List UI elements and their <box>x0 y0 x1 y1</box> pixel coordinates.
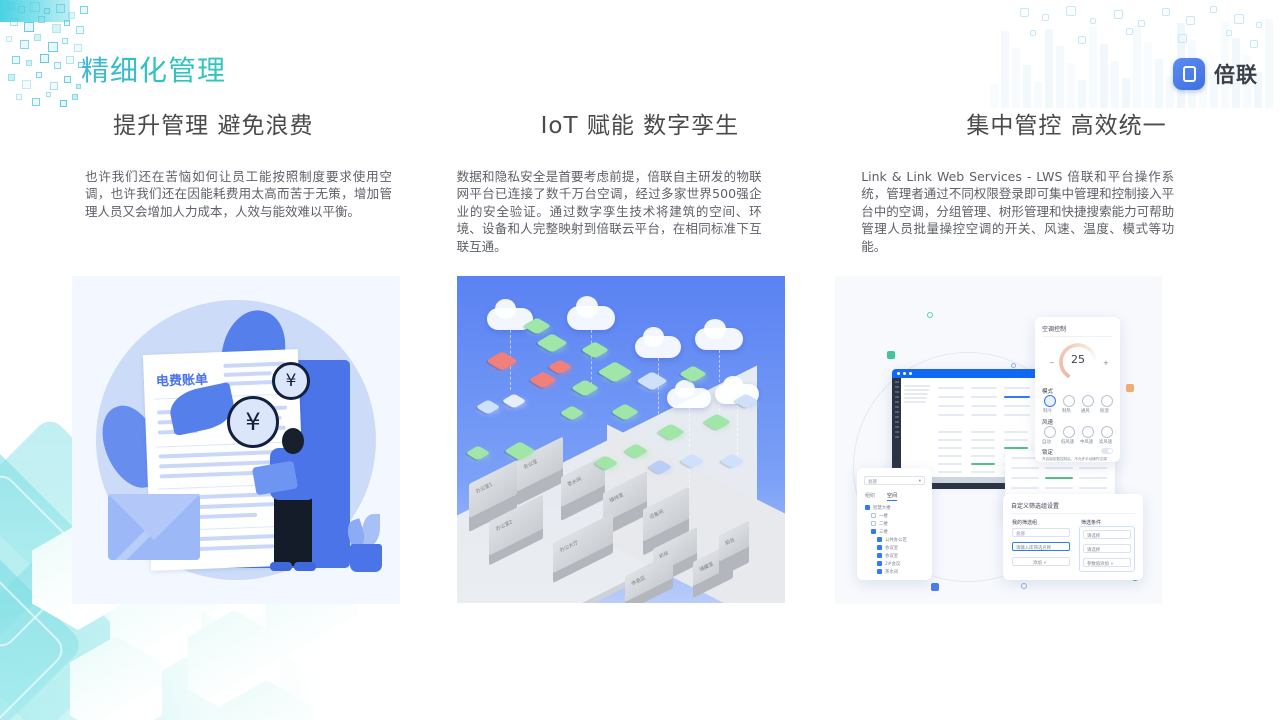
device-node-icon <box>560 406 585 421</box>
filter-name-input[interactable]: 请输入库筛选名称 <box>1012 542 1070 551</box>
table-row <box>971 414 997 416</box>
browser-titlebar <box>892 369 1047 378</box>
table-cell <box>971 471 995 473</box>
tree-node-label: 二楼 <box>879 521 888 527</box>
coin-small: ¥ <box>272 362 310 400</box>
room-label: 会议室 <box>522 458 539 471</box>
table-row <box>938 396 964 398</box>
table-cell <box>938 471 962 473</box>
mode-3-label: 除湿 <box>1100 408 1109 414</box>
column-2-body: 数据和隐私安全是首要考虑前提，倍联自主研发的物联网平台已连接了数千万台空调，经过… <box>457 168 762 255</box>
room-label: 接待室 <box>608 491 625 504</box>
table-row <box>1004 414 1030 416</box>
table-row <box>1004 405 1030 407</box>
brand-logo: 倍联 <box>1173 58 1258 90</box>
table-row <box>1045 487 1073 489</box>
table-cell <box>938 455 962 457</box>
filter-condition-value: 请选择 <box>1087 533 1100 539</box>
fan-2-icon[interactable] <box>1082 426 1094 438</box>
table-row <box>938 414 964 416</box>
column-3: 集中管控 高效统一 Link & Link Web Services - LWS… <box>853 110 1280 255</box>
filter-name-value[interactable]: 总部 <box>1012 528 1070 537</box>
device-node-icon <box>581 342 609 359</box>
mode-1-icon[interactable] <box>1063 395 1075 407</box>
mode-3-icon[interactable] <box>1101 395 1113 407</box>
cloud-puff <box>495 299 516 319</box>
brand-name: 倍联 <box>1214 59 1258 89</box>
table-row <box>1079 477 1107 479</box>
device-node-icon <box>611 404 639 421</box>
fan-1-icon[interactable] <box>1063 426 1075 438</box>
custom-filter-panel[interactable]: 自定义筛选组设置 我的筛选组 筛选条件 总部 请输入库筛选名称 添加 + 请选择… <box>1003 494 1143 580</box>
coin-large: ¥ <box>227 396 279 448</box>
fan-0-label: 自动 <box>1042 439 1051 445</box>
table-row <box>1079 467 1107 469</box>
room-label: 办公室1 <box>474 481 493 495</box>
table-cell <box>971 431 995 433</box>
device-node-icon <box>536 333 568 352</box>
tree-node-checkbox[interactable] <box>871 513 876 518</box>
room-label: 前台 <box>724 536 736 547</box>
device-node-icon <box>529 372 557 389</box>
mode-2-label: 通风 <box>1081 408 1090 414</box>
tab-space[interactable]: 空间 <box>887 492 897 501</box>
tree-node-checkbox[interactable] <box>871 521 876 526</box>
fan-2-label: 中风速 <box>1080 439 1093 445</box>
plant-pot <box>350 544 382 572</box>
room-label: 办公大厅 <box>558 539 579 554</box>
person-head <box>282 428 304 454</box>
room-label: 茶水间 <box>566 475 583 488</box>
filter-add-left-button[interactable]: 添加 + <box>1012 557 1070 566</box>
decor-dot <box>1011 363 1016 368</box>
decor-square <box>931 583 939 591</box>
device-node-icon <box>548 360 573 375</box>
decor-square <box>887 351 895 359</box>
filter-left-col-label: 我的筛选组 <box>1012 519 1037 526</box>
device-node-icon <box>486 351 518 370</box>
connection-dashline <box>591 330 592 390</box>
room-label: 办公室2 <box>494 518 513 532</box>
table-row <box>1079 487 1107 489</box>
table-row <box>938 405 964 407</box>
table-cell <box>1004 439 1028 441</box>
org-select[interactable]: 总部 ▾ <box>864 476 925 485</box>
bill-title: 电费账单 <box>156 369 209 390</box>
device-node-icon <box>476 400 501 415</box>
person-legs <box>274 494 312 566</box>
page-title: 精细化管理 <box>81 52 226 90</box>
content-columns: 提升管理 避免浪费 也许我们还在苦恼如何让员工能按照制度要求使用空调，也许我们还… <box>0 110 1280 255</box>
table-row <box>1011 477 1039 479</box>
plant-leaf <box>362 514 380 546</box>
mode-2-icon[interactable] <box>1082 395 1094 407</box>
decor-square <box>1126 384 1134 392</box>
tree-node-checkbox[interactable] <box>877 537 882 542</box>
table-row <box>904 393 928 395</box>
mode-0-label: 制冷 <box>1043 408 1052 414</box>
column-2-heading: IoT 赋能 数字孪生 <box>427 110 854 142</box>
cloud-puff <box>576 296 598 318</box>
tree-node-label: 一楼 <box>879 513 888 519</box>
filter-panel-title: 自定义筛选组设置 <box>1011 501 1059 510</box>
column-1: 提升管理 避免浪费 也许我们还在苦恼如何让员工能按照制度要求使用空调，也许我们还… <box>0 110 427 255</box>
device-node-icon <box>636 371 668 390</box>
lws-dashboard-mockup-illustration: 空调控制 25 − + 模式 制冷制热通风除湿 风速 自动低风速中风速高风速 锁… <box>835 276 1162 604</box>
tree-node-checkbox[interactable] <box>865 505 870 510</box>
tree-node-checkbox[interactable] <box>877 545 882 550</box>
filter-right-col-label: 筛选条件 <box>1081 519 1101 526</box>
circuit-skyline-icon <box>980 0 1280 110</box>
browser-sidebar[interactable] <box>892 378 901 477</box>
table-row <box>1045 467 1073 469</box>
ac-control-panel[interactable]: 空调控制 25 − + 模式 制冷制热通风除湿 风速 自动低风速中风速高风速 锁… <box>1035 317 1120 462</box>
cloud-puff <box>704 319 726 339</box>
tree-node-label: 三楼 <box>879 529 888 535</box>
tree-node-label: 会议室 <box>885 545 898 551</box>
fan-0-icon[interactable] <box>1044 426 1056 438</box>
mode-1-label: 制热 <box>1062 408 1071 414</box>
chevron-down-icon: ▾ <box>919 479 921 484</box>
room-label: 储藏室 <box>698 560 715 573</box>
tree-node-label: 会议室 <box>885 553 898 559</box>
filter-condition-value: 请选择 <box>1087 547 1100 553</box>
cloud-puff <box>675 380 695 398</box>
table-row <box>971 405 997 407</box>
cloud-puff <box>723 376 743 394</box>
filter-add-right-button[interactable]: 添加 + <box>1083 558 1131 567</box>
mode-label: 模式 <box>1042 387 1053 395</box>
table-cell <box>938 447 962 449</box>
column-1-heading: 提升管理 避免浪费 <box>0 110 427 142</box>
column-2: IoT 赋能 数字孪生 数据和隐私安全是首要考虑前提，倍联自主研发的物联网平台已… <box>427 110 854 255</box>
table-row <box>904 389 929 391</box>
table-cell <box>938 463 962 465</box>
temp-increase-button[interactable]: + <box>1103 359 1109 367</box>
table-row <box>971 387 997 389</box>
table-row <box>971 396 997 398</box>
filter-add-right-label: 添加 + <box>1100 561 1114 567</box>
filter-condition-field[interactable]: 请选择 <box>1083 530 1131 539</box>
lock-hint: 开启锁定数控制后，不允许手动操作空调 <box>1042 457 1107 462</box>
tree-node-checkbox[interactable] <box>871 529 876 534</box>
tree-node-label: 智慧大楼 <box>873 505 891 511</box>
table-cell <box>1004 431 1028 433</box>
room-label: 休息区 <box>630 574 647 587</box>
corner-ribbon <box>0 0 70 22</box>
table-row <box>1045 477 1073 479</box>
ac-panel-title: 空调控制 <box>1042 324 1066 333</box>
tree-node-label: 茶水间 <box>885 569 898 575</box>
table-row <box>1004 387 1030 389</box>
table-cell <box>971 455 995 457</box>
tree-node-checkbox[interactable] <box>877 561 882 566</box>
mode-0-icon[interactable] <box>1044 395 1056 407</box>
column-3-body: Link & Link Web Services - LWS 倍联和平台操作系统… <box>861 168 1174 255</box>
table-row <box>904 397 927 399</box>
lock-toggle[interactable] <box>1101 448 1113 454</box>
decor-dot <box>927 312 933 318</box>
table-cell <box>938 431 962 433</box>
fan-3-label: 高风速 <box>1099 439 1112 445</box>
table-row <box>1011 487 1039 489</box>
room-label: 设备间 <box>648 508 665 521</box>
table-row <box>938 387 964 389</box>
tree-node-checkbox[interactable] <box>877 569 882 574</box>
table-cell <box>938 439 962 441</box>
space-tree-panel[interactable]: 总部 ▾ 组织 空间 智慧大楼一楼二楼三楼公共办公区会议室会议室2#会议茶水间 <box>857 468 932 580</box>
tree-node-label: 公共办公区 <box>885 537 907 543</box>
table-cell <box>971 447 995 449</box>
connection-dashline <box>689 408 690 488</box>
table-cell <box>1004 447 1028 449</box>
tree-node-label: 2#会议 <box>885 561 900 567</box>
column-1-body: 也许我们还在苦恼如何让员工能按照制度要求使用空调，也许我们还在因能耗费用太高而苦… <box>85 168 392 220</box>
temperature-value: 25 <box>1059 353 1097 366</box>
connection-dashline <box>737 404 738 460</box>
lock-label: 锁定 <box>1042 448 1053 456</box>
table-row <box>904 385 930 387</box>
tab-organization[interactable]: 组织 <box>865 492 875 499</box>
table-row <box>904 401 926 403</box>
decor-dot <box>1021 583 1027 589</box>
person-shoe <box>270 562 292 571</box>
filter-condition-field[interactable]: 请选择 <box>1083 544 1131 553</box>
cloud-puff <box>643 327 664 347</box>
table-row <box>1011 467 1039 469</box>
app-square-icon <box>1173 58 1205 90</box>
fan-1-label: 低风速 <box>1061 439 1074 445</box>
device-node-icon <box>502 394 527 409</box>
table-cell <box>971 463 995 465</box>
fan-label: 风速 <box>1042 418 1053 426</box>
column-3-heading: 集中管控 高效统一 <box>853 110 1280 142</box>
device-node-icon <box>571 380 599 397</box>
tree-node-checkbox[interactable] <box>877 553 882 558</box>
device-node-icon <box>466 446 491 461</box>
digital-twin-isometric-illustration: 办公室1会议室茶水间接待室设备间办公室2办公大厅机房储藏室休息区前台 <box>457 276 785 603</box>
device-node-icon <box>597 361 632 382</box>
electricity-bill-illustration: 电费账单 ¥ ¥ <box>72 276 400 604</box>
table-cell <box>971 439 995 441</box>
table-row <box>1004 396 1030 398</box>
fan-3-icon[interactable] <box>1101 426 1113 438</box>
person-shoe <box>294 562 316 571</box>
temp-decrease-button[interactable]: − <box>1049 359 1055 367</box>
